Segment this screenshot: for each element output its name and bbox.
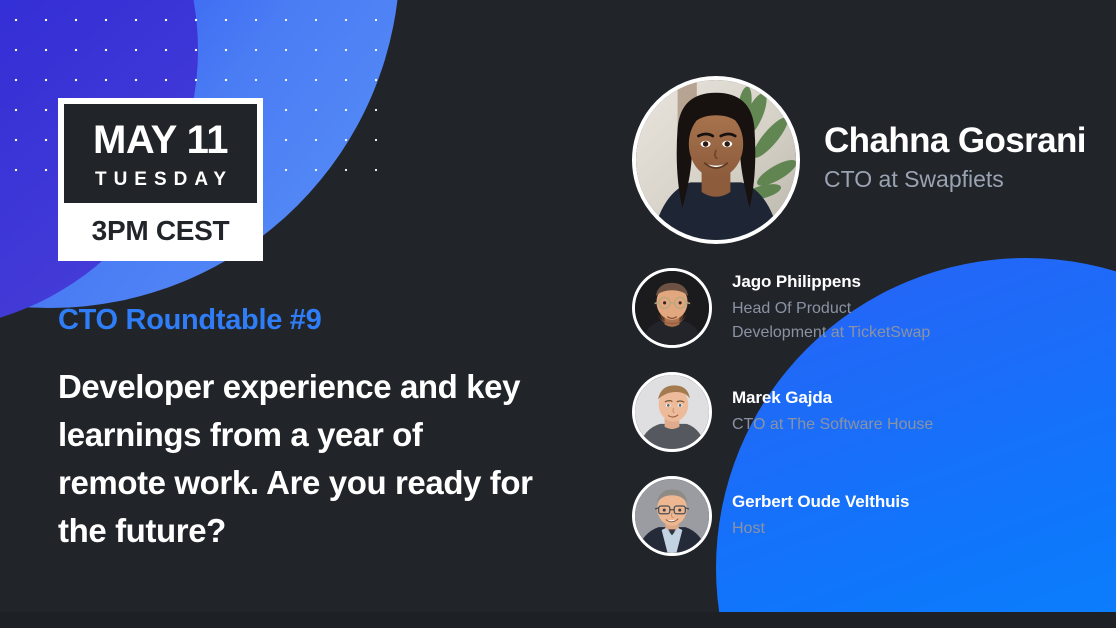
speaker-avatar (632, 268, 712, 348)
featured-speaker-role: CTO at Swapfiets (824, 166, 1086, 194)
webinar-promo-poster: MAY 11 TUESDAY 3PM CEST CTO Roundtable #… (0, 0, 1116, 628)
bottom-strip (0, 612, 1116, 628)
featured-speaker: Chahna Gosrani CTO at Swapfiets (632, 76, 1102, 244)
event-date: MAY 11 (72, 120, 249, 160)
left-content-column: MAY 11 TUESDAY 3PM CEST CTO Roundtable #… (58, 98, 578, 554)
speaker-text: Marek Gajda CTO at The Software House (732, 387, 933, 436)
speaker-item: Jago Philippens Head Of Product Developm… (632, 268, 1102, 348)
speakers-column: Chahna Gosrani CTO at Swapfiets (632, 76, 1102, 556)
date-card: MAY 11 TUESDAY 3PM CEST (58, 98, 263, 261)
speaker-role: Host (732, 517, 909, 541)
featured-speaker-text: Chahna Gosrani CTO at Swapfiets (824, 121, 1086, 200)
speaker-item: Marek Gajda CTO at The Software House (632, 372, 1102, 452)
event-series-label: CTO Roundtable #9 (58, 306, 578, 335)
speaker-role: Head Of Product Development at TicketSwa… (732, 297, 947, 345)
featured-speaker-avatar (632, 76, 800, 244)
speaker-list: Jago Philippens Head Of Product Developm… (632, 268, 1102, 556)
event-headline: Developer experience and key learnings f… (58, 363, 538, 554)
event-weekday: TUESDAY (72, 170, 249, 189)
speaker-name: Marek Gajda (732, 387, 933, 408)
speaker-name: Jago Philippens (732, 271, 947, 292)
speaker-text: Gerbert Oude Velthuis Host (732, 491, 909, 540)
speaker-avatar (632, 476, 712, 556)
speaker-avatar (632, 372, 712, 452)
featured-speaker-name: Chahna Gosrani (824, 121, 1086, 160)
speaker-name: Gerbert Oude Velthuis (732, 491, 909, 512)
event-time: 3PM CEST (64, 203, 257, 261)
speaker-item: Gerbert Oude Velthuis Host (632, 476, 1102, 556)
date-card-inner: MAY 11 TUESDAY (64, 104, 257, 203)
speaker-text: Jago Philippens Head Of Product Developm… (732, 271, 947, 344)
speaker-role: CTO at The Software House (732, 413, 933, 437)
